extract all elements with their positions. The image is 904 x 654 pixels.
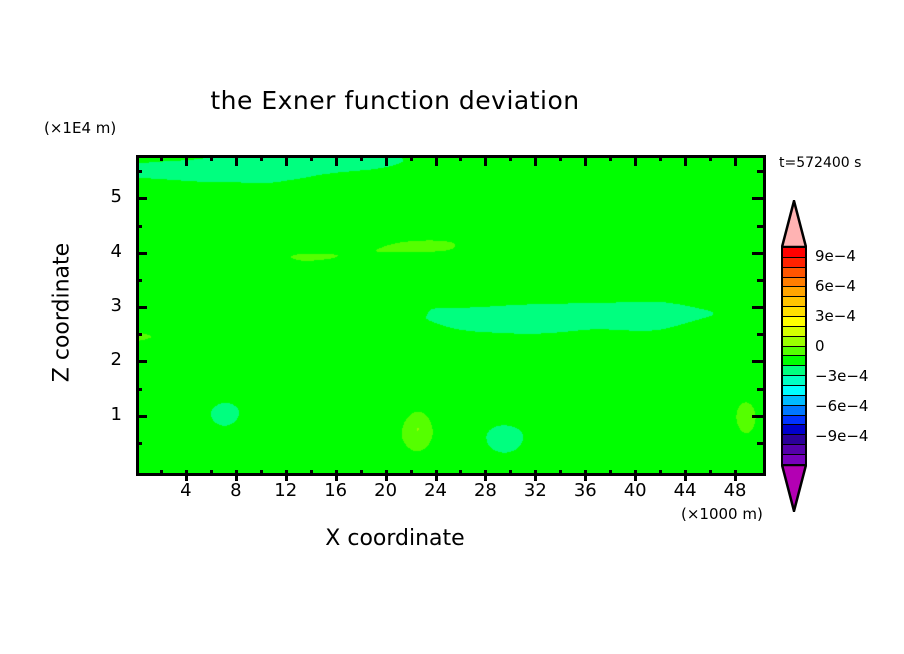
x-tick-label-20: 20 [366, 480, 406, 501]
colorbar-label-6: −9e−4 [815, 427, 868, 445]
colorbar-band-8 [783, 327, 805, 337]
x-tick-30 [509, 470, 512, 476]
colorbar-band-12 [783, 366, 805, 376]
x-tick-label-4: 4 [166, 480, 206, 501]
x-tick-label-44: 44 [665, 480, 705, 501]
x-tick-top-28 [484, 155, 487, 166]
x-tick-top-20 [385, 155, 388, 166]
x-tick-top-14 [310, 155, 313, 161]
y-axis-title: Z coordinate [50, 223, 75, 403]
y-tick-4.5 [136, 225, 142, 228]
x-tick-14 [310, 470, 313, 476]
x-tick-2 [160, 470, 163, 476]
y-tick-right-3 [752, 306, 763, 309]
x-tick-label-48: 48 [715, 480, 755, 501]
x-tick-38 [609, 470, 612, 476]
y-tick-right-2 [752, 360, 763, 363]
x-tick-top-46 [709, 155, 712, 161]
colorbar-band-6 [783, 307, 805, 317]
colorbar-under-arrow-icon [781, 464, 807, 512]
colorbar-band-10 [783, 347, 805, 357]
y-tick-right-2.5 [757, 333, 763, 336]
x-tick-6 [210, 470, 213, 476]
colorbar-band-5 [783, 297, 805, 307]
colorbar-label-1: 6e−4 [815, 277, 856, 295]
y-tick-2 [136, 360, 147, 363]
colorbar-label-2: 3e−4 [815, 307, 856, 325]
x-tick-top-40 [634, 155, 637, 166]
colorbar-band-18 [783, 425, 805, 435]
x-tick-18 [360, 470, 363, 476]
x-tick-top-44 [684, 155, 687, 166]
x-tick-top-30 [509, 155, 512, 161]
colorbar-band-16 [783, 406, 805, 416]
colorbar-band-9 [783, 337, 805, 347]
contour-plot-area [136, 155, 766, 476]
contour-field-canvas [139, 158, 763, 473]
x-tick-top-22 [410, 155, 413, 161]
y-tick-1 [136, 415, 147, 418]
x-tick-top-6 [210, 155, 213, 161]
colorbar-band-14 [783, 386, 805, 396]
x-tick-label-40: 40 [615, 480, 655, 501]
y-tick-4 [136, 252, 147, 255]
time-annotation: t=572400 s [779, 155, 861, 171]
x-axis-title: X coordinate [0, 526, 790, 551]
x-tick-34 [559, 470, 562, 476]
x-tick-label-32: 32 [515, 480, 555, 501]
x-tick-top-38 [609, 155, 612, 161]
x-tick-top-10 [260, 155, 263, 161]
x-tick-label-28: 28 [465, 480, 505, 501]
colorbar-band-4 [783, 287, 805, 297]
x-tick-top-24 [435, 155, 438, 166]
colorbar-label-5: −6e−4 [815, 397, 868, 415]
x-tick-top-18 [360, 155, 363, 161]
y-tick-label-5: 5 [96, 186, 122, 207]
colorbar-band-0 [783, 248, 805, 258]
colorbar-band-7 [783, 317, 805, 327]
y-tick-0.5 [136, 442, 142, 445]
y-tick-right-0.5 [757, 442, 763, 445]
colorbar-over-arrow-icon [781, 200, 807, 248]
y-tick-1.5 [136, 388, 142, 391]
x-tick-top-4 [185, 155, 188, 166]
colorbar-band-21 [783, 455, 805, 464]
x-tick-22 [410, 470, 413, 476]
page-title: the Exner function deviation [0, 86, 790, 115]
y-tick-3.5 [136, 279, 142, 282]
y-tick-label-2: 2 [96, 349, 122, 370]
y-tick-right-4 [752, 252, 763, 255]
y-tick-5.5 [136, 170, 142, 173]
colorbar: 9e−46e−43e−40−3e−4−6e−4−9e−4 [781, 200, 807, 485]
y-tick-label-4: 4 [96, 241, 122, 262]
x-tick-42 [659, 470, 662, 476]
x-tick-top-2 [160, 155, 163, 161]
y-tick-right-1.5 [757, 388, 763, 391]
x-tick-top-26 [459, 155, 462, 161]
y-tick-3 [136, 306, 147, 309]
x-axis-unit-label: (×1000 m) [681, 505, 763, 523]
colorbar-band-15 [783, 396, 805, 406]
y-tick-right-5.5 [757, 170, 763, 173]
colorbar-bands [781, 246, 807, 466]
colorbar-band-11 [783, 356, 805, 366]
y-tick-label-3: 3 [96, 295, 122, 316]
x-tick-top-42 [659, 155, 662, 161]
colorbar-label-3: 0 [815, 337, 825, 355]
colorbar-band-2 [783, 268, 805, 278]
x-tick-top-32 [534, 155, 537, 166]
colorbar-band-20 [783, 445, 805, 455]
x-tick-top-36 [584, 155, 587, 166]
y-axis-unit-label: (×1E4 m) [44, 119, 116, 137]
x-tick-label-36: 36 [565, 480, 605, 501]
x-tick-top-12 [285, 155, 288, 166]
colorbar-band-19 [783, 435, 805, 445]
x-tick-26 [459, 470, 462, 476]
colorbar-band-3 [783, 278, 805, 288]
y-tick-right-3.5 [757, 279, 763, 282]
colorbar-band-1 [783, 258, 805, 268]
x-tick-label-24: 24 [416, 480, 456, 501]
x-tick-46 [709, 470, 712, 476]
x-tick-top-34 [559, 155, 562, 161]
y-tick-label-1: 1 [96, 404, 122, 425]
colorbar-label-4: −3e−4 [815, 367, 868, 385]
x-tick-top-48 [734, 155, 737, 166]
x-tick-label-8: 8 [216, 480, 256, 501]
colorbar-band-13 [783, 376, 805, 386]
y-tick-right-1 [752, 415, 763, 418]
x-tick-top-16 [335, 155, 338, 166]
x-tick-label-12: 12 [266, 480, 306, 501]
colorbar-band-17 [783, 416, 805, 426]
y-tick-2.5 [136, 333, 142, 336]
y-tick-5 [136, 197, 147, 200]
y-tick-right-4.5 [757, 225, 763, 228]
x-tick-label-16: 16 [316, 480, 356, 501]
x-tick-10 [260, 470, 263, 476]
x-tick-top-8 [235, 155, 238, 166]
y-tick-right-5 [752, 197, 763, 200]
colorbar-label-0: 9e−4 [815, 247, 856, 265]
